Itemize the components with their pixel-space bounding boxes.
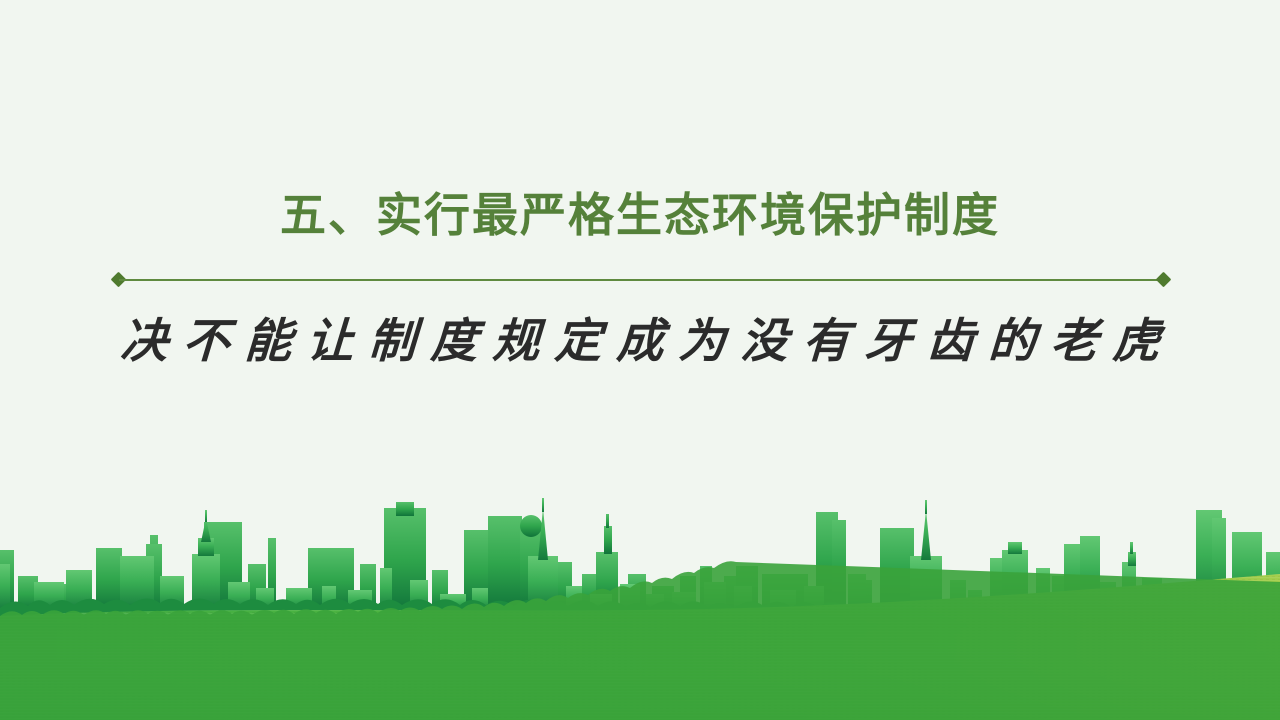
subtitle-block: 决不能让制度规定成为没有牙齿的老虎 bbox=[0, 302, 1280, 371]
diamond-marker-right-icon bbox=[1156, 272, 1172, 288]
city-skyline-illustration bbox=[0, 490, 1280, 720]
page-subtitle: 决不能让制度规定成为没有牙齿的老虎 bbox=[104, 302, 1177, 371]
divider-line bbox=[119, 279, 1163, 281]
slide-canvas: 五、实行最严格生态环境保护制度 决不能让制度规定成为没有牙齿的老虎 bbox=[0, 0, 1280, 720]
divider bbox=[113, 274, 1169, 286]
page-title: 五、实行最严格生态环境保护制度 bbox=[280, 188, 1000, 242]
title-block: 五、实行最严格生态环境保护制度 bbox=[0, 188, 1280, 242]
